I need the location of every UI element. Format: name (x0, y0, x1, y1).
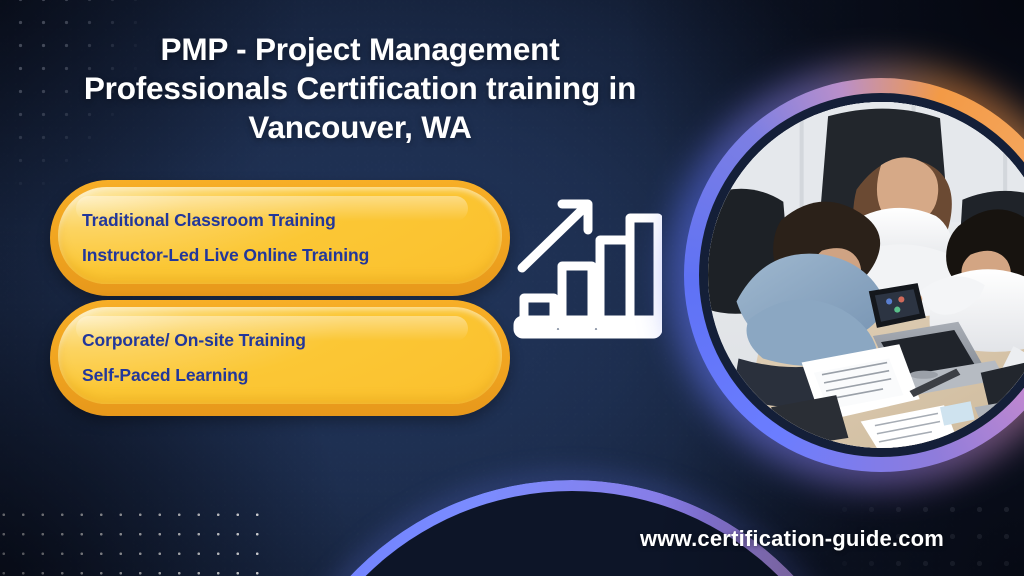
pill-2-line-1: Corporate/ On-site Training (82, 330, 488, 351)
training-modes-pill-1[interactable]: Traditional Classroom Training Instructo… (50, 180, 510, 296)
white-dot-grid-icon (0, 505, 274, 576)
pill-2-text: Corporate/ On-site Training Self-Paced L… (82, 300, 488, 416)
website-url[interactable]: www.certification-guide.com (640, 526, 944, 552)
page-title-line-3: Vancouver, WA (40, 108, 680, 147)
training-modes-pill-2[interactable]: Corporate/ On-site Training Self-Paced L… (50, 300, 510, 416)
pill-1-line-2: Instructor-Led Live Online Training (82, 245, 488, 266)
pmp-training-banner: PMP - Project Management Professionals C… (0, 0, 1024, 576)
page-title-line-1: PMP - Project Management (40, 30, 680, 69)
page-title: PMP - Project Management Professionals C… (40, 30, 680, 147)
page-title-line-2: Professionals Certification training in (40, 69, 680, 108)
pill-1-text: Traditional Classroom Training Instructo… (82, 180, 488, 296)
growth-bar-chart-icon (512, 190, 662, 340)
team-meeting-photo (684, 78, 1024, 472)
pill-2-line-2: Self-Paced Learning (82, 365, 488, 386)
pill-1-line-1: Traditional Classroom Training (82, 210, 488, 231)
